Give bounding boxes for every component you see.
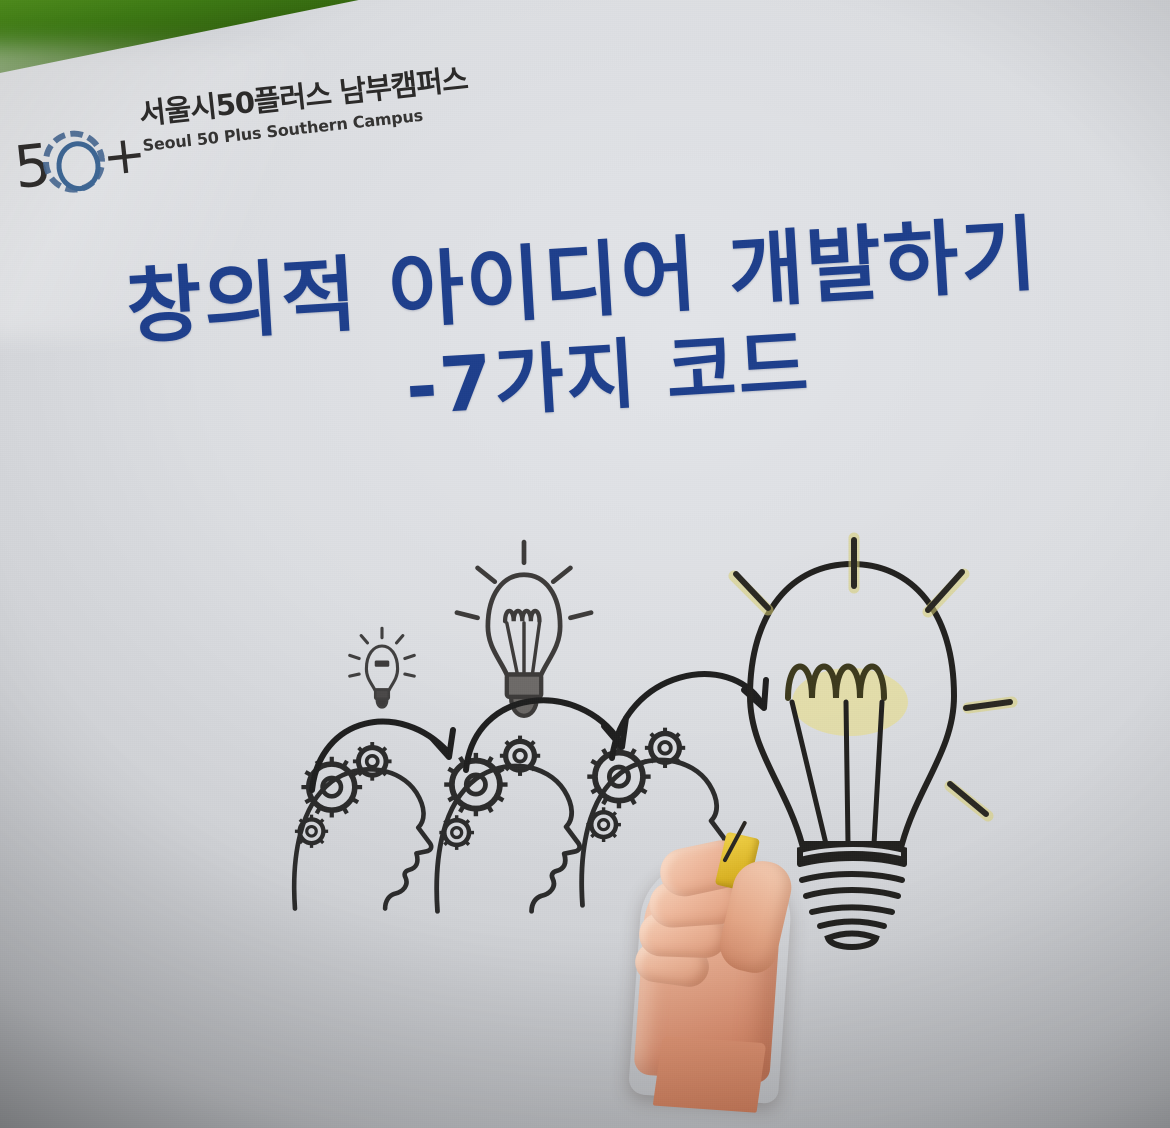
logo-circle-zero-icon: [40, 127, 108, 195]
hand-holding-marker: [618, 806, 827, 1101]
poster-photo: 5 + 서울시50플러스 남부캠퍼스 Seoul 50 Plus Souther…: [0, 0, 1170, 1128]
wrist: [653, 1036, 767, 1113]
fifty-plus-logo-icon: 5 +: [11, 123, 149, 199]
